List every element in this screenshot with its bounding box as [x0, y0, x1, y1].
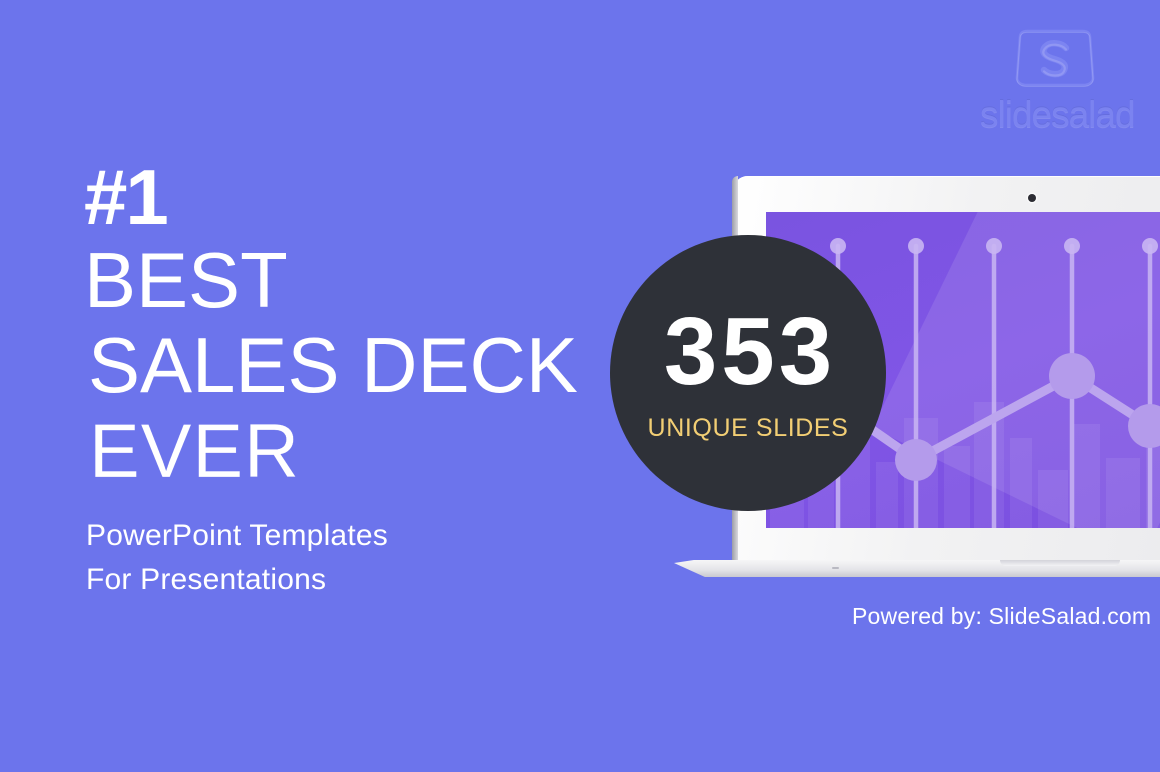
- headline-line-3: EVER: [84, 409, 644, 494]
- headline-rank: #1: [84, 160, 644, 235]
- unique-slides-badge: 353 UNIQUE SLIDES: [610, 235, 886, 511]
- subtitle-line-2: For Presentations: [86, 558, 644, 602]
- laptop-base-notch: [1000, 560, 1120, 566]
- badge-count: 353: [664, 304, 836, 400]
- subtitle-line-1: PowerPoint Templates: [86, 514, 644, 558]
- slidesalad-shield-icon: [1014, 28, 1096, 90]
- badge-label: UNIQUE SLIDES: [648, 414, 849, 443]
- slidesalad-logo: slidesalad: [980, 28, 1130, 133]
- laptop-base-foot-left: [832, 567, 839, 569]
- headline-line-2: SALES DECK: [84, 322, 644, 409]
- laptop-camera-icon: [1028, 194, 1036, 202]
- subtitle-block: PowerPoint Templates For Presentations: [84, 514, 644, 602]
- headline-line-1: BEST: [84, 239, 644, 322]
- headline-block: #1 BEST SALES DECK EVER PowerPoint Templ…: [84, 160, 644, 602]
- slidesalad-wordmark: slidesalad: [980, 96, 1130, 133]
- chart-stem-dots: [830, 238, 1158, 254]
- promo-slide: slidesalad #1 BEST SALES DECK EVER Power…: [0, 0, 1160, 772]
- powered-by-text: Powered by: SlideSalad.com: [852, 603, 1151, 630]
